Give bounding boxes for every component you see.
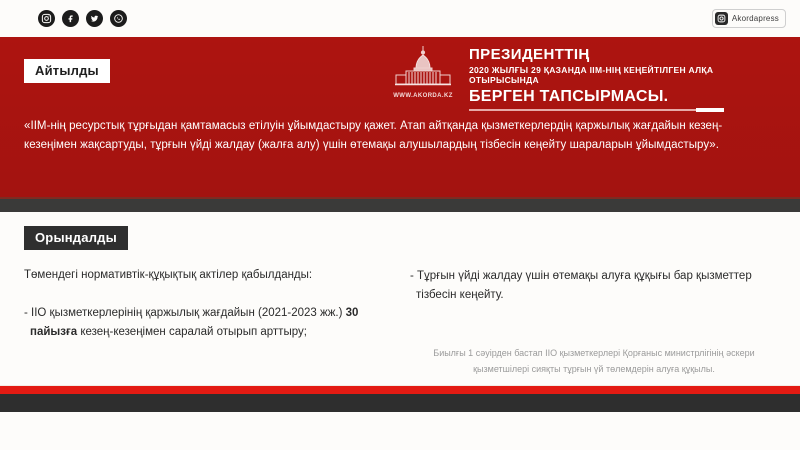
body-column-left: Төмендегі нормативтік-құқықтық актілер қ…	[24, 267, 392, 377]
hero-quote-text: «IIM-нің ресурстық тұрғыдан қамтамасыз е…	[0, 113, 800, 154]
body-columns: Төмендегі нормативтік-құқықтық актілер қ…	[0, 267, 800, 377]
instagram-handle-chip[interactable]: Akordapress	[712, 9, 786, 28]
bullet-left-suffix: кезең-кезеңімен саралай отырып арттыру;	[77, 326, 307, 338]
top-social-bar: Akordapress	[0, 0, 800, 37]
body-bullet-right: - Тұрғын үйді жалдау үшін өтемақы алуға …	[410, 267, 778, 304]
whatsapp-icon[interactable]	[110, 10, 127, 27]
akorda-palace-icon	[392, 45, 454, 91]
body-footnote: Биылғы 1 сәуірден бастап IIО қызметкерле…	[410, 346, 778, 377]
hero-titles: ПРЕЗИДЕНТТІҢ 2020 ЖЫЛҒЫ 29 ҚАЗАНДА IIМ-Н…	[469, 43, 769, 111]
body-bullet-left: - IIО қызметкерлерінің қаржылық жағдайын…	[24, 304, 392, 341]
hero-title-rule	[469, 109, 724, 111]
hero-title-line2: 2020 ЖЫЛҒЫ 29 ҚАЗАНДА IIМ-НІҢ КЕҢЕЙТІЛГЕ…	[469, 65, 769, 86]
instagram-icon[interactable]	[38, 10, 55, 27]
section-divider	[0, 197, 800, 212]
bottom-red-stripe	[0, 385, 800, 394]
hero-right: WWW.AKORDA.KZ ПРЕЗИДЕНТТІҢ 2020 ЖЫЛҒЫ 29…	[385, 37, 800, 111]
body-section: Орындалды Төмендегі нормативтік-құқықтық…	[0, 212, 800, 412]
hero-top-row: Айтылды	[0, 37, 800, 113]
bottom-dark-bar	[0, 394, 800, 412]
status-badge-said: Айтылды	[24, 59, 110, 83]
akorda-crest: WWW.AKORDA.KZ	[385, 43, 461, 99]
hero-banner: Айтылды	[0, 37, 800, 197]
body-column-right: - Тұрғын үйді жалдау үшін өтемақы алуға …	[410, 267, 778, 377]
bullet-left-prefix: - IIО қызметкерлерінің қаржылық жағдайын…	[24, 307, 346, 319]
body-lead-text: Төмендегі нормативтік-құқықтық актілер қ…	[24, 267, 392, 284]
hero-title-line3: БЕРГЕН ТАПСЫРМАСЫ.	[469, 89, 769, 106]
facebook-icon[interactable]	[62, 10, 79, 27]
status-badge-done: Орындалды	[24, 226, 128, 250]
crest-url-text: WWW.AKORDA.KZ	[393, 93, 453, 99]
social-links	[38, 10, 127, 27]
instagram-icon	[715, 12, 728, 25]
twitter-icon[interactable]	[86, 10, 103, 27]
hero-title-line1: ПРЕЗИДЕНТТІҢ	[469, 47, 769, 63]
hero-left: Айтылды	[0, 37, 385, 83]
instagram-handle-text: Akordapress	[732, 14, 779, 23]
